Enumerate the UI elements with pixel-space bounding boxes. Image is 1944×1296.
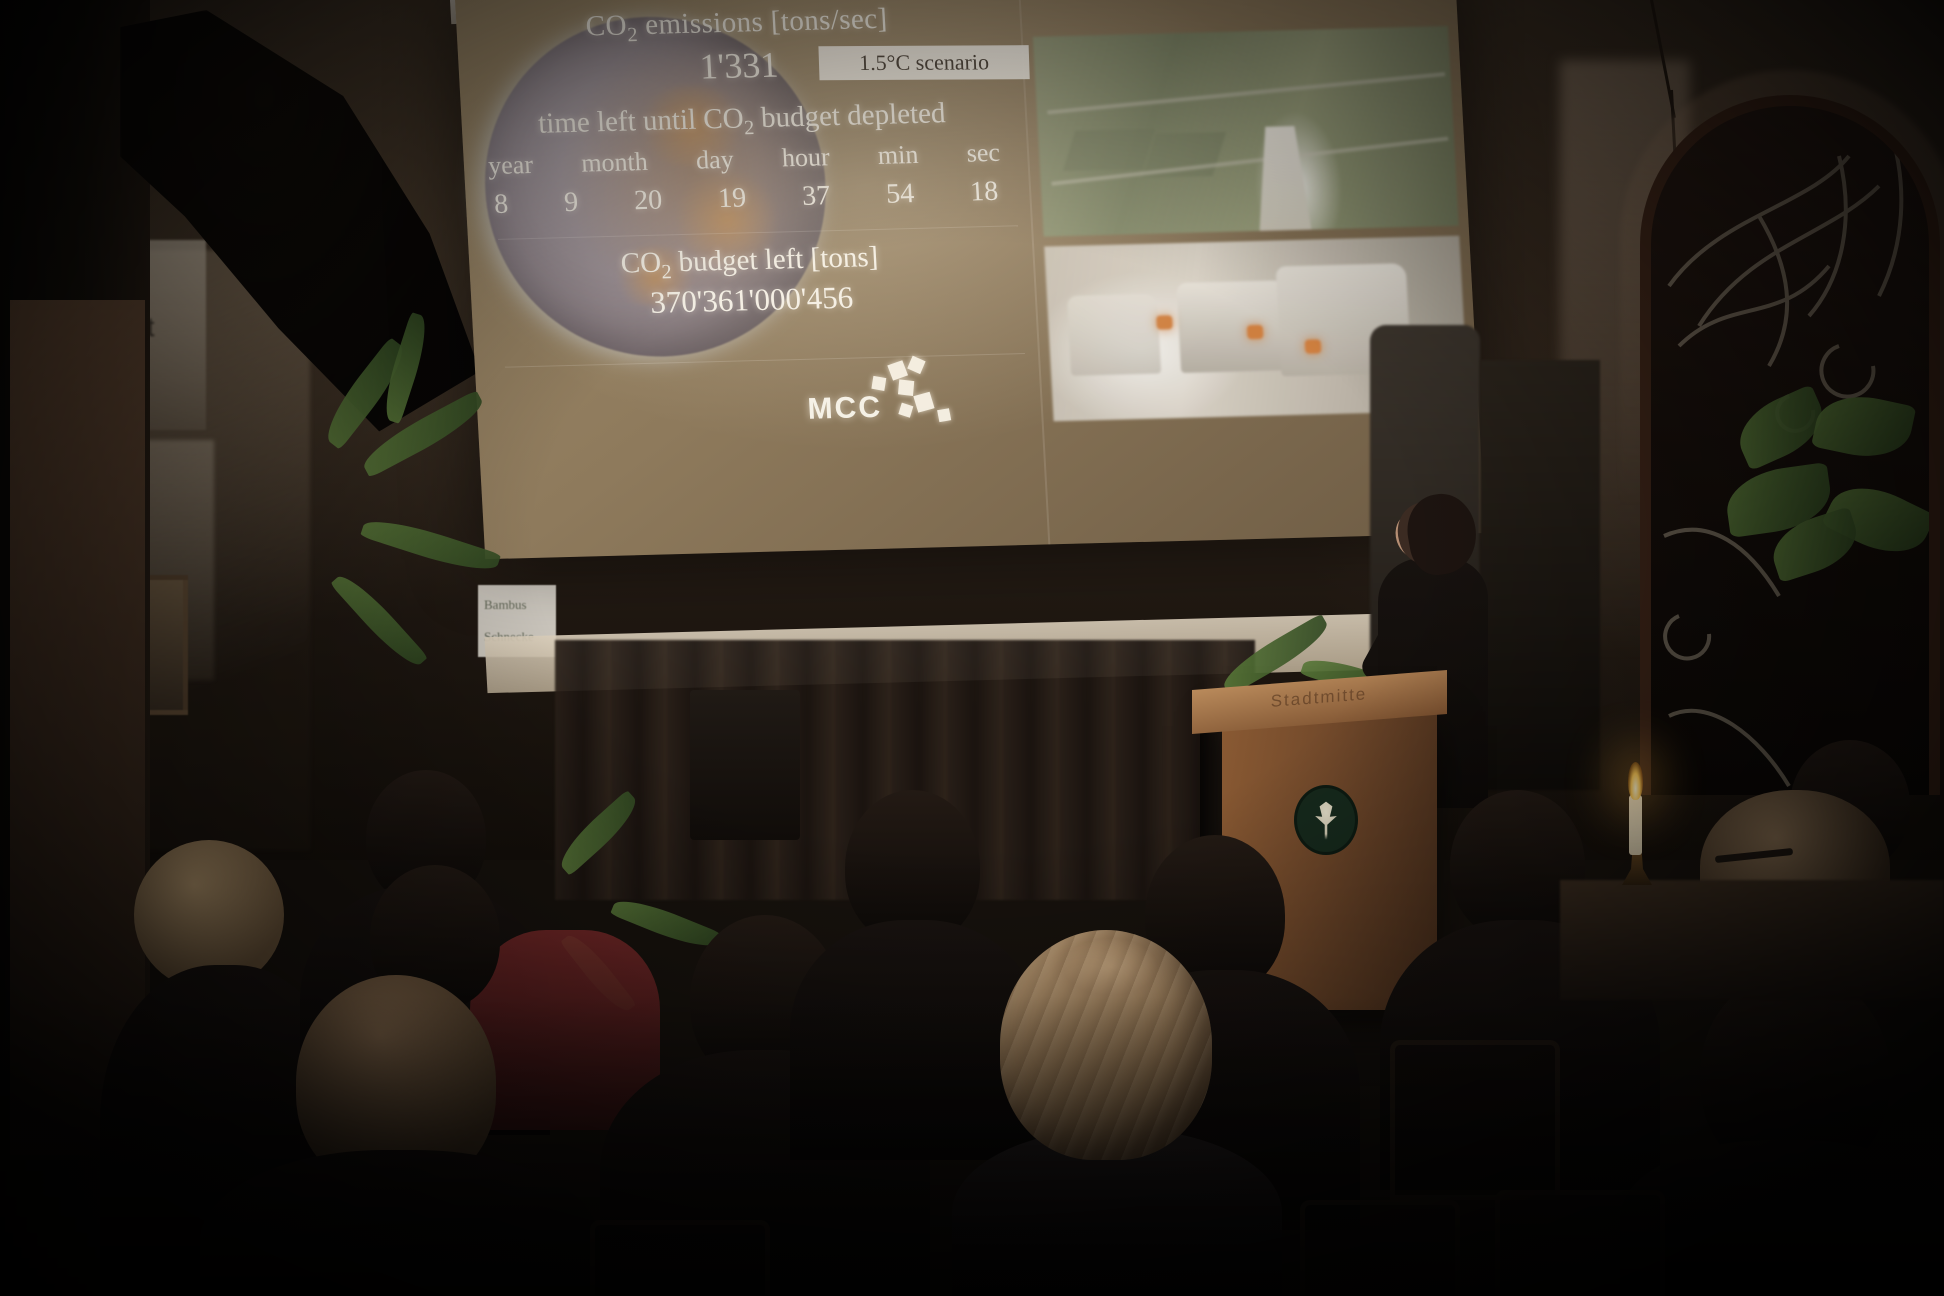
tail-light-icon [1156, 315, 1173, 329]
value-year: 8 [493, 189, 509, 221]
car-shape [1176, 280, 1291, 373]
plant-leaf [1811, 387, 1916, 465]
value-hour: 19 [717, 182, 747, 215]
value-sec: 54 [885, 178, 915, 211]
photo-scene: nt Bambus Schnecke [0, 0, 1944, 1296]
candle-flame-icon [1628, 762, 1643, 800]
chair [590, 1220, 770, 1296]
value-month: 9 [563, 187, 579, 219]
podium-emblem [1294, 785, 1358, 855]
cooling-tower [1254, 126, 1312, 232]
chair [1390, 1040, 1560, 1200]
value-extra: 18 [969, 176, 999, 209]
tail-light-icon [1305, 339, 1322, 353]
tree-icon [1310, 800, 1342, 840]
tail-light-icon [1247, 325, 1264, 339]
mcc-square-icon [887, 360, 908, 380]
mcc-square-icon [871, 376, 886, 391]
scenario-badge-label: 1.5°C scenario [859, 49, 990, 76]
arch-plant [1711, 356, 1940, 606]
chair [1495, 1190, 1665, 1296]
knit-beanie-hat [1000, 930, 1212, 1160]
plant-leaf [357, 390, 489, 478]
beanie-knit-texture [1000, 930, 1212, 1160]
plant-leaf [330, 568, 428, 673]
side-table [1560, 880, 1944, 1000]
mcc-square-icon [898, 403, 913, 418]
mcc-logo: MCC [805, 356, 979, 435]
unit-min: min [877, 140, 919, 171]
unit-month: month [580, 147, 648, 179]
car-shape [1067, 294, 1161, 376]
arched-door[interactable] [1640, 95, 1940, 795]
unit-year: year [487, 150, 533, 181]
slide-photo-power-plant [1033, 26, 1459, 237]
slide-surface: CO2 emissions [tons/sec] 1'331 time left… [455, 0, 1485, 559]
unit-hour: hour [781, 142, 830, 173]
loudspeaker-box [690, 690, 800, 840]
candle [1629, 795, 1642, 855]
unit-day: day [695, 145, 734, 176]
value-day: 20 [633, 185, 663, 218]
mcc-square-icon [937, 408, 951, 422]
scenario-badge: 1.5°C scenario [818, 45, 1029, 80]
mcc-square-icon [898, 379, 914, 396]
mcc-logo-text: MCC [807, 391, 883, 427]
mcc-square-icon [907, 356, 925, 375]
potted-plant-left [320, 400, 550, 720]
unit-sec: sec [966, 138, 1001, 169]
countdown-values: 8 9 20 19 37 54 18 [465, 175, 1027, 222]
chair [1300, 1200, 1460, 1296]
plant-leaf [360, 511, 501, 579]
value-min: 37 [801, 180, 831, 213]
mcc-square-icon [913, 392, 934, 413]
